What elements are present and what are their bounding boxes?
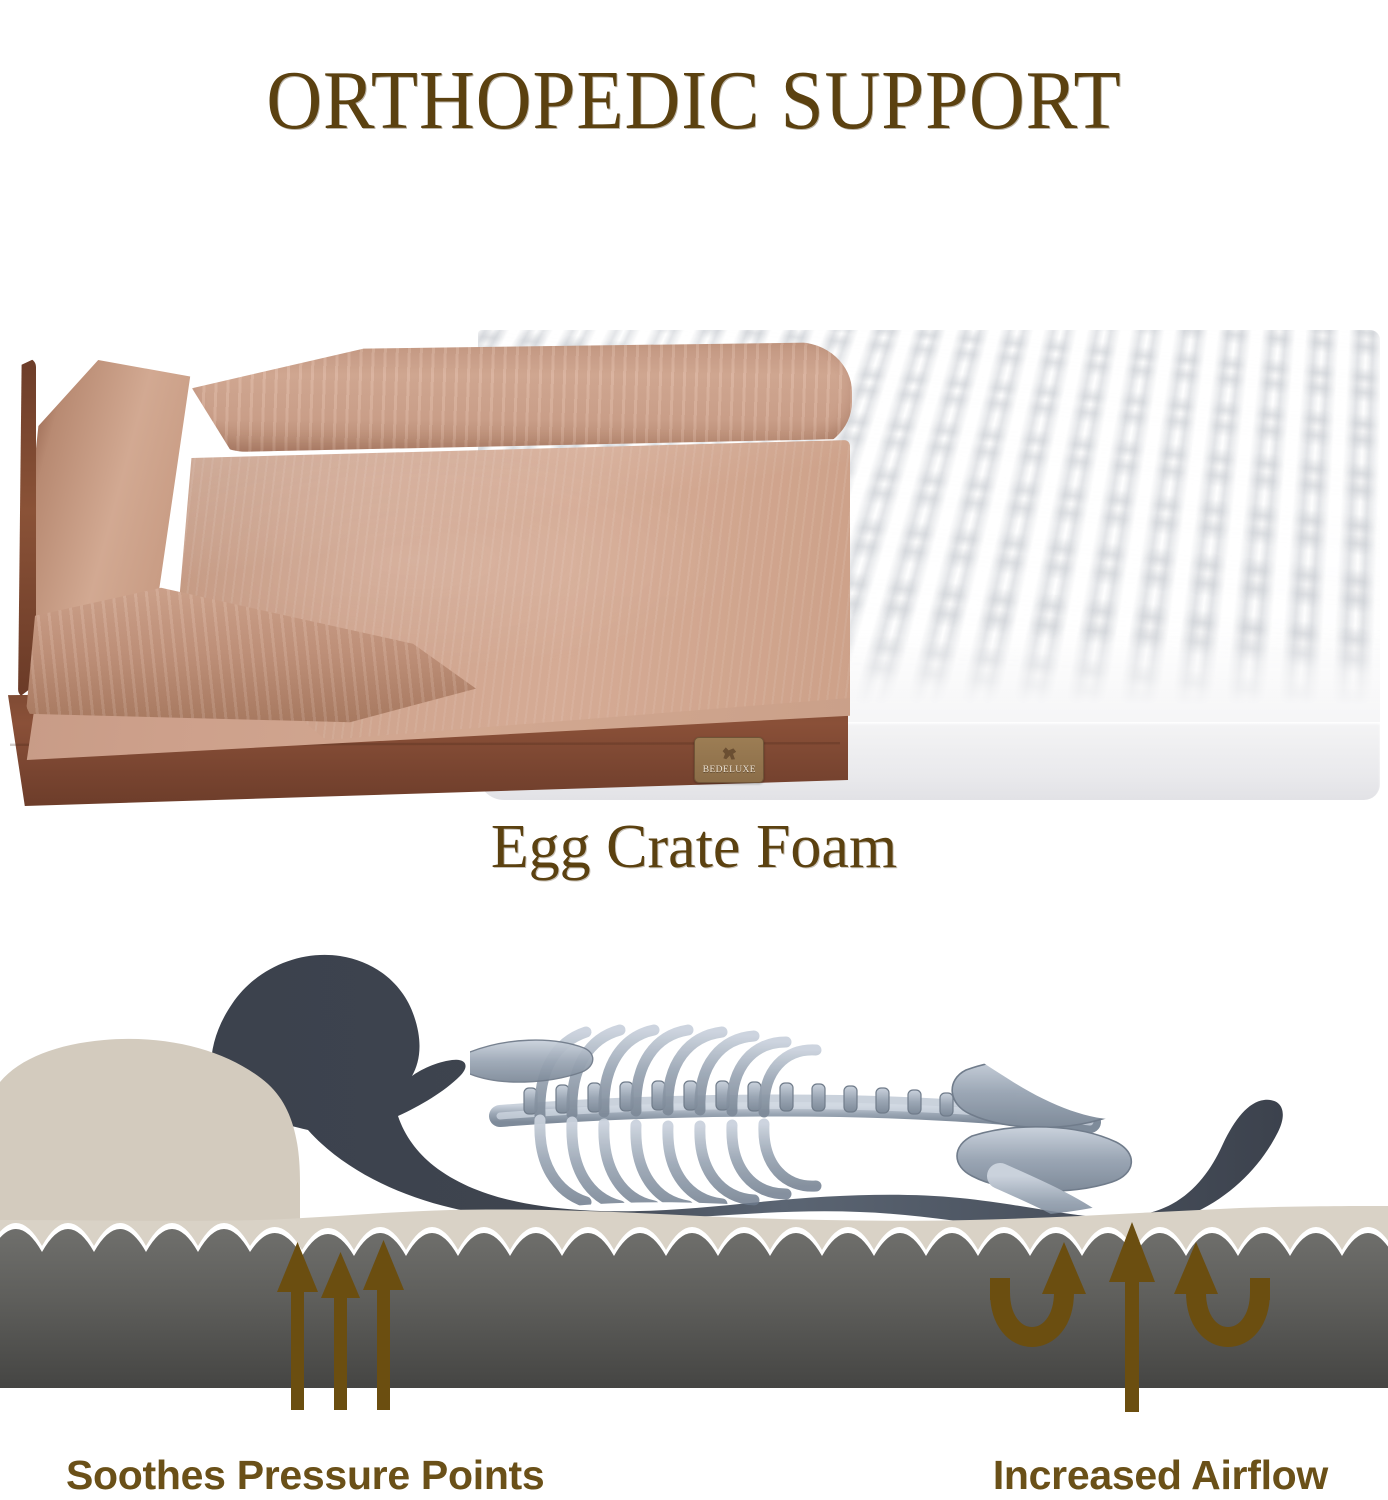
foam-cross-section xyxy=(0,1229,1388,1388)
brand-tag: BEDELUXE xyxy=(694,737,764,783)
bed-back-bolster xyxy=(192,342,852,452)
infographic-canvas: ORTHOPEDIC SUPPORT BEDELUXE Egg Crate Fo… xyxy=(0,0,1388,1500)
label-increased-airflow: Increased Airflow xyxy=(993,1452,1328,1499)
running-dog-icon xyxy=(719,746,739,763)
egg-crate-foam-caption: Egg Crate Foam xyxy=(0,812,1388,883)
label-soothes-pressure-points: Soothes Pressure Points xyxy=(66,1452,544,1499)
page-title: ORTHOPEDIC SUPPORT xyxy=(56,52,1333,149)
cross-section-diagram xyxy=(0,920,1388,1420)
product-photo xyxy=(8,330,1380,805)
pressure-relief-arrows xyxy=(277,1240,404,1410)
brand-tag-text: BEDELUXE xyxy=(702,764,755,774)
